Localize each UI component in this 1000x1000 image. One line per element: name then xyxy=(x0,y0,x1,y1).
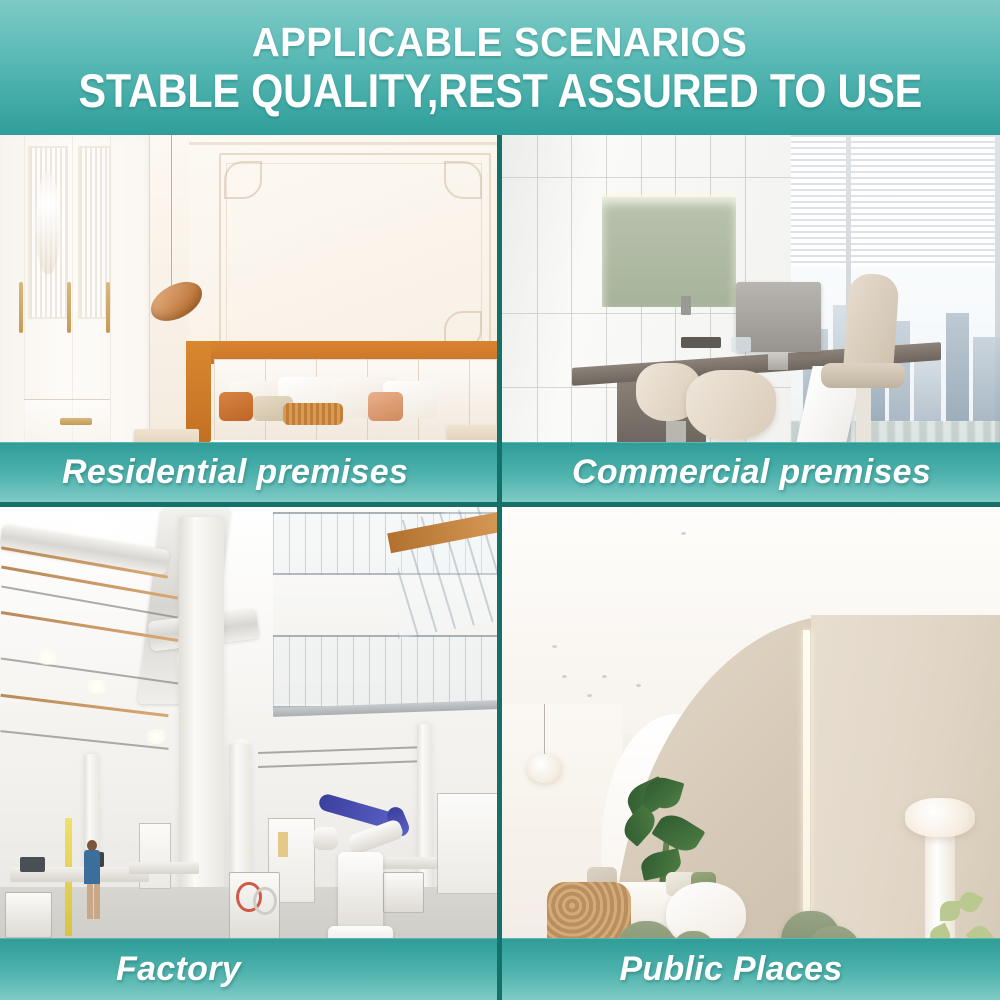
caption-bar-factory: Factory xyxy=(0,938,497,1000)
wardrobe-handle xyxy=(106,282,110,333)
equipment-cart-right xyxy=(383,872,425,913)
factory-window-right xyxy=(437,793,497,894)
ceiling-lamp xyxy=(35,650,60,665)
worker-torso xyxy=(84,850,100,885)
ceiling-downlight xyxy=(681,532,686,535)
hose-coil xyxy=(253,887,276,915)
guest-chair-front xyxy=(686,370,776,440)
ceiling-downlight xyxy=(602,675,607,678)
moulding-corner-icon xyxy=(224,161,262,199)
factory-column-main xyxy=(179,517,224,941)
workbench-rear xyxy=(129,862,199,874)
desk-glass xyxy=(731,337,751,352)
bed-bolster-striped xyxy=(283,403,343,425)
caption-bar-residential: Residential premises xyxy=(0,442,497,502)
bedroom-cornice xyxy=(189,142,497,145)
caption-factory: Factory xyxy=(0,950,497,989)
ceiling-lamp xyxy=(144,729,169,744)
moulding-corner-icon xyxy=(444,161,482,199)
robot-end-effector xyxy=(313,827,338,849)
panel-public-places[interactable]: Public Places xyxy=(502,507,1000,1000)
panel-commercial[interactable]: Commercial premises xyxy=(502,135,1000,502)
wardrobe-handle xyxy=(67,282,71,333)
pendant-lamp xyxy=(527,754,562,784)
header-banner: APPLICABLE SCENARIOS STABLE QUALITY,REST… xyxy=(0,0,1000,135)
panel-residential[interactable]: Residential premises xyxy=(0,135,497,502)
worker-leg xyxy=(94,884,100,919)
drawer-handle xyxy=(60,418,93,425)
ceiling-rail xyxy=(258,760,427,768)
executive-chair-seat xyxy=(821,363,906,389)
chandelier-reflection xyxy=(36,172,60,275)
column-lamp-head xyxy=(905,798,975,837)
wall-light-strip xyxy=(803,630,810,936)
imac-stand xyxy=(768,352,788,370)
ceiling-downlight xyxy=(562,675,567,678)
panel-factory[interactable]: Factory xyxy=(0,507,497,1000)
factory-photo xyxy=(0,507,497,1000)
executive-chair-post xyxy=(856,388,871,447)
public-places-photo xyxy=(502,507,1000,1000)
window-blinds xyxy=(791,135,1000,267)
niche-faucet-icon xyxy=(681,296,691,314)
ceiling-rail xyxy=(258,746,427,754)
office-green-niche xyxy=(602,197,736,307)
caption-commercial: Commercial premises xyxy=(502,453,931,492)
headline-primary: APPLICABLE SCENARIOS xyxy=(252,20,747,64)
caption-public-places: Public Places xyxy=(502,950,1000,989)
caption-bar-public: Public Places xyxy=(502,938,1000,1000)
worker-head xyxy=(87,840,97,851)
headline-secondary: STABLE QUALITY,REST ASSURED TO USE xyxy=(78,66,922,116)
equipment-crate xyxy=(5,892,52,938)
bedroom-wall-moulding-inner xyxy=(226,163,481,352)
scenario-grid: Residential premises xyxy=(0,135,1000,1000)
bed-cushion-peach xyxy=(368,392,403,421)
ceiling-rail xyxy=(0,730,168,750)
caption-bar-commercial: Commercial premises xyxy=(502,442,1000,502)
wardrobe-handle xyxy=(19,282,23,333)
worker-leg xyxy=(87,884,93,919)
bed-cushion-orange xyxy=(219,392,254,421)
caption-residential: Residential premises xyxy=(0,453,408,492)
mezzanine-glass-railing xyxy=(273,635,497,708)
pendant-cord xyxy=(171,135,172,296)
desk-tray xyxy=(681,337,721,348)
door-window-icon xyxy=(278,832,288,857)
ceiling-downlight xyxy=(552,645,557,648)
bench-monitor xyxy=(20,857,45,872)
poster-root: APPLICABLE SCENARIOS STABLE QUALITY,REST… xyxy=(0,0,1000,1000)
